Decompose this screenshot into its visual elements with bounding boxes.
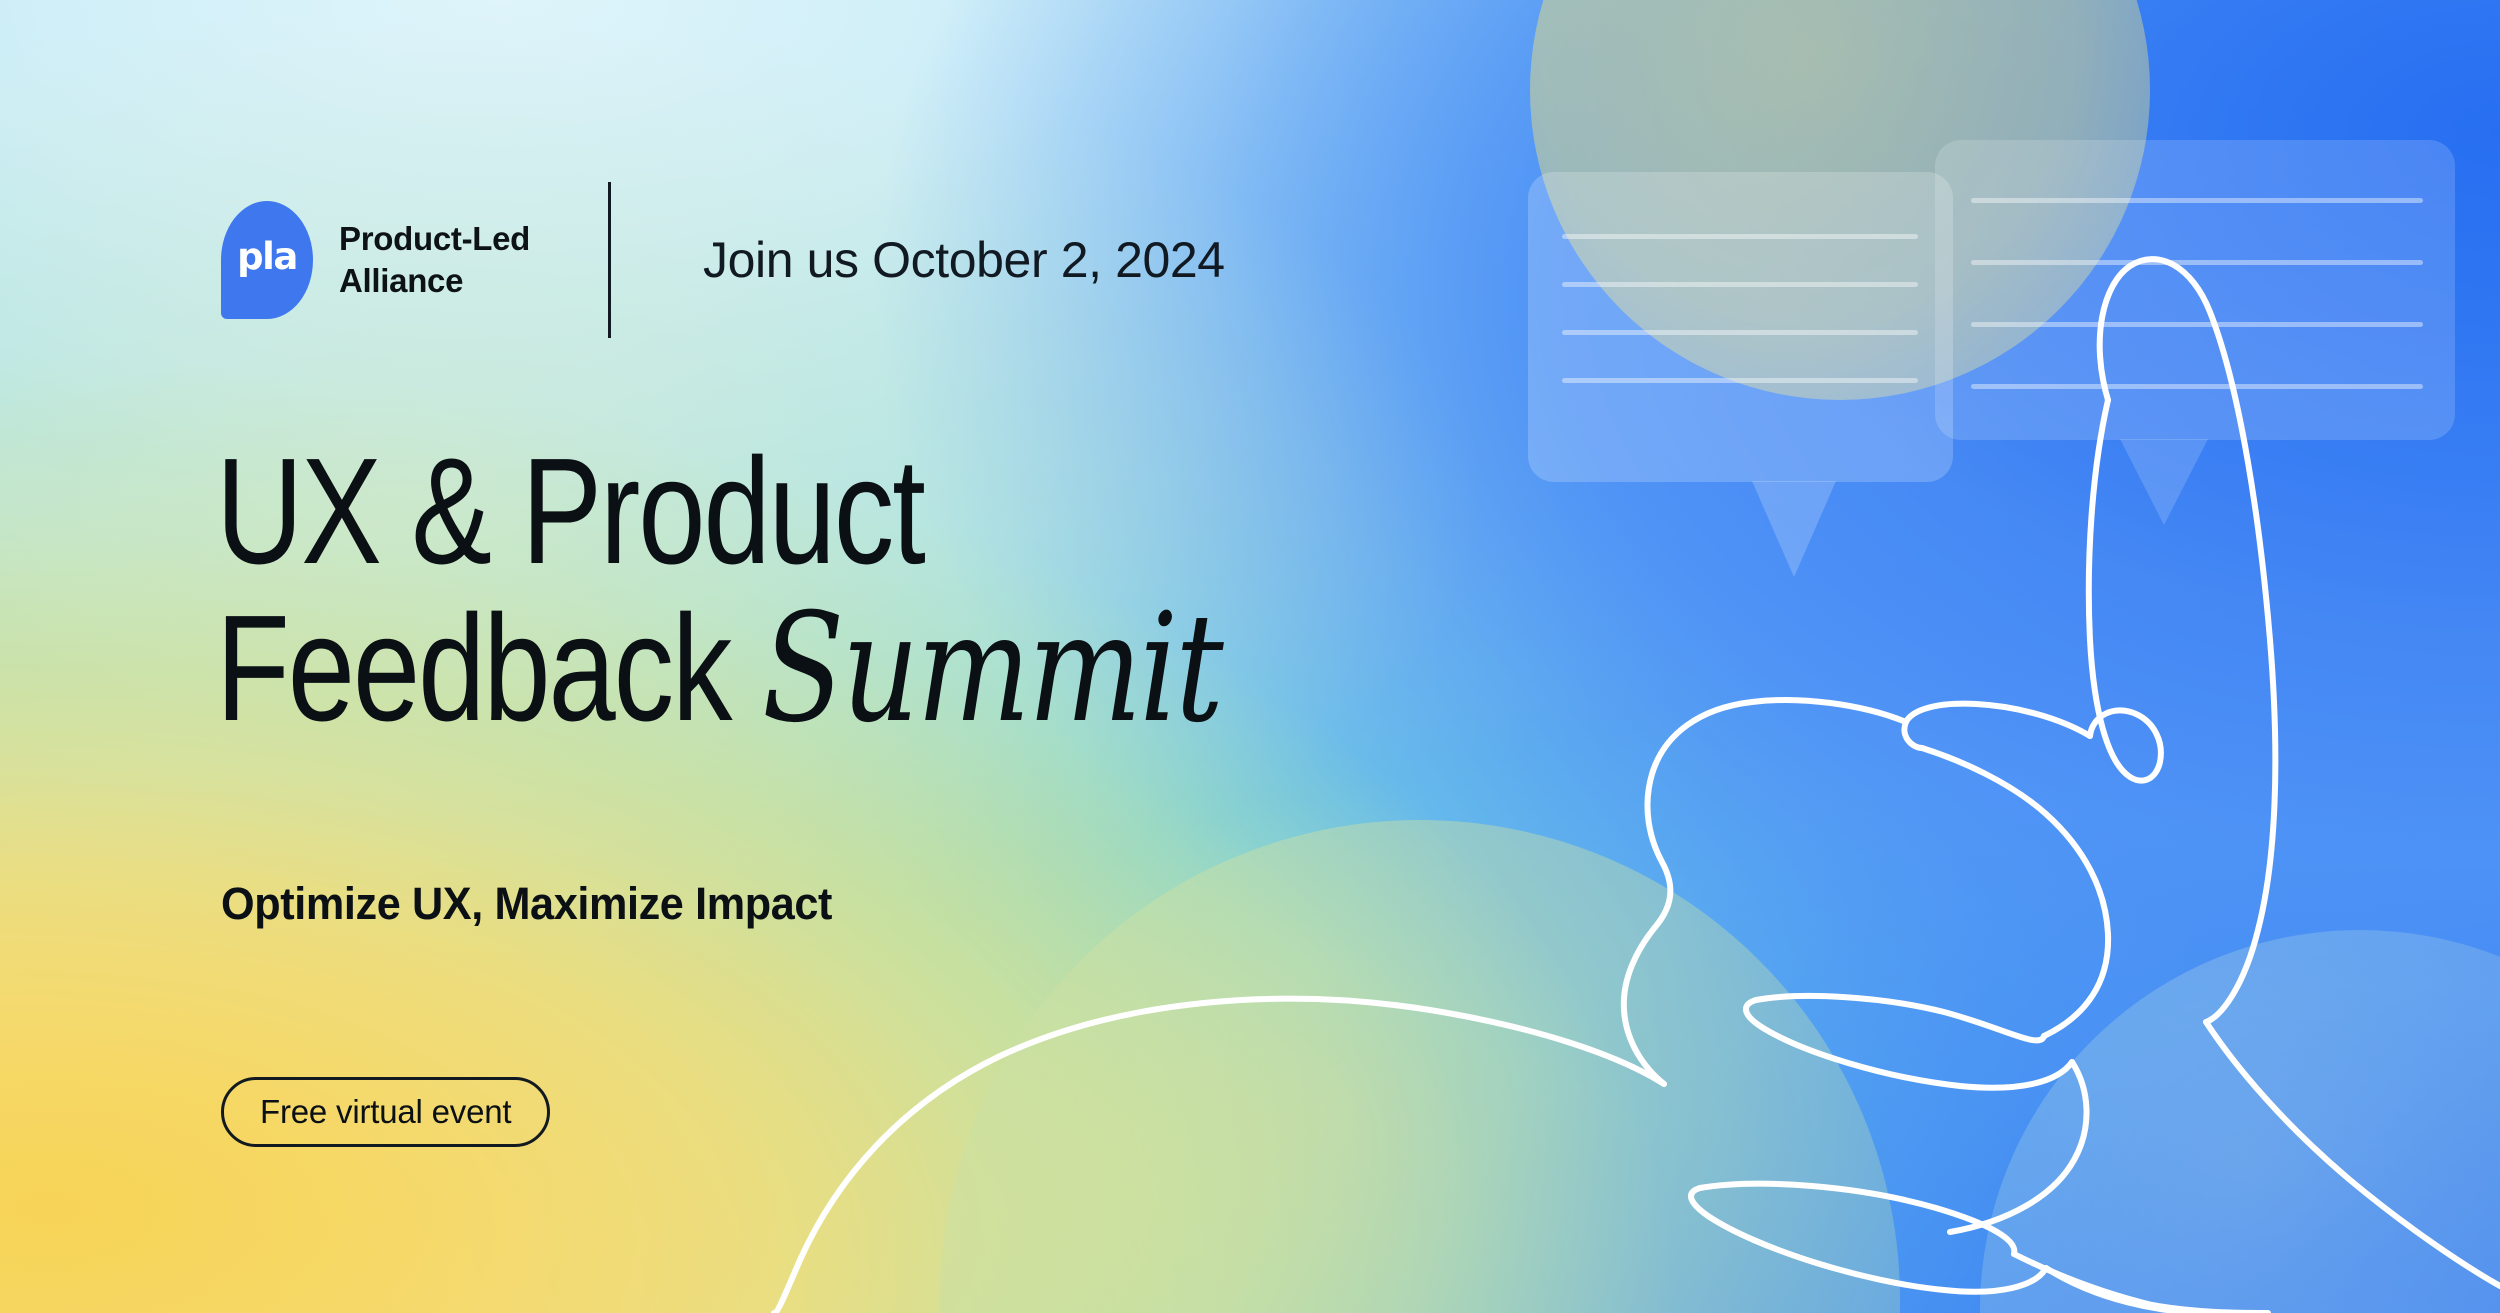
pla-logo-wordmark: pla (237, 238, 297, 275)
status-badge: Free virtual event (221, 1077, 550, 1147)
status-badge-label: Free virtual event (260, 1093, 511, 1131)
headline-line-2-regular: Feedback (216, 583, 762, 752)
banner-header-row: pla Product-Led Alliance Join us October… (221, 180, 1225, 340)
event-date-label: Join us October 2, 2024 (703, 231, 1225, 289)
headline-line-2-italic: Summit (762, 582, 1221, 756)
pla-logo-mark-icon: pla (221, 201, 313, 319)
page-title: UX & Product Feedback Summit (216, 432, 1221, 747)
headline-line-2: Feedback Summit (216, 589, 1221, 747)
event-promo-banner: pla Product-Led Alliance Join us October… (0, 0, 2500, 1313)
product-led-alliance-logo[interactable]: pla Product-Led Alliance (221, 201, 530, 319)
header-vertical-divider (608, 182, 611, 338)
headline-line-1: UX & Product (216, 432, 1221, 589)
banner-subtitle: Optimize UX, Maximize Impact (221, 878, 832, 930)
banner-content: pla Product-Led Alliance Join us October… (0, 0, 2500, 1313)
brand-name-label: Product-Led Alliance (339, 218, 530, 302)
